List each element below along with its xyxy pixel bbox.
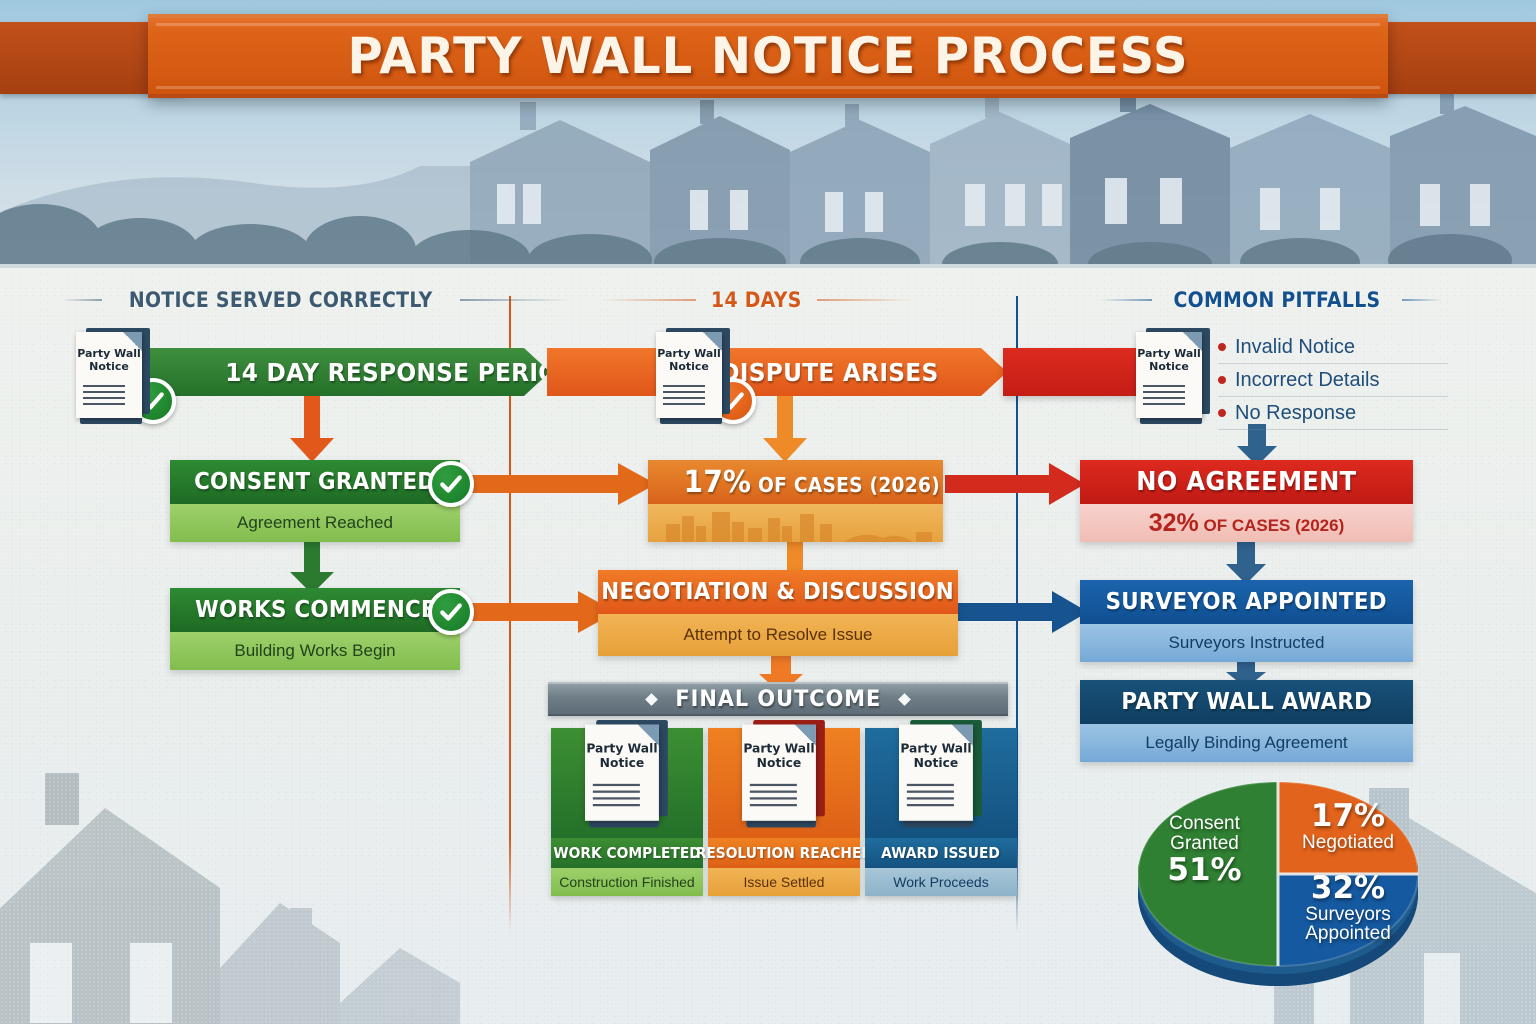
page-title: PARTY WALL NOTICE PROCESS [347,27,1188,85]
card-title: WORKS COMMENCE [195,597,436,623]
card-no-agreement: NO AGREEMENT 32% OF CASES (2026) [1080,460,1413,542]
card-party-wall-award: PARTY WALL AWARD Legally Binding Agreeme… [1080,680,1413,762]
outcome-card-subtitle: Work Proceeds [893,874,988,890]
banner-label: 14 DAY RESPONSE PERIOD [225,358,578,387]
doc-title: Party Wall Notice [899,741,973,770]
card-subtitle: Agreement Reached [237,513,393,533]
outcome-card-subtitle-bar: Construction Finished [551,868,703,896]
card-stat-17-percent: 17% OF CASES (2026) [648,460,943,542]
arrow-right-negotiation-to-surveyor [958,591,1088,633]
pitfall-label: Invalid Notice [1235,336,1355,359]
pie-label-value: 51% [1142,854,1267,887]
pitfall-item: Incorrect Details [1218,364,1448,397]
doc-sheet: Party Wall Notice [76,332,142,418]
card-title: NEGOTIATION & DISCUSSION [602,579,955,605]
notice-doc-outcome-1: Party Wall Notice [585,720,672,828]
pie-label-surveyors: 32% Surveyors Appointed [1286,872,1410,944]
rule [460,299,570,301]
check-icon [438,599,464,625]
card-header: NO AGREEMENT [1080,460,1413,504]
doc-title-line1: Party Wall [900,741,971,756]
card-surveyor-appointed: SURVEYOR APPOINTED Surveyors Instructed [1080,580,1413,662]
diamond-ornament-icon [898,693,911,706]
outcome-card-title-bar: WORK COMPLETED [551,838,703,868]
column-label: 14 DAYS [711,288,802,312]
column-label: NOTICE SERVED CORRECTLY [129,288,433,312]
notice-doc-left: Party Wall Notice [76,328,154,424]
doc-text-lines [663,385,705,409]
outcome-card-title-bar: AWARD ISSUED [865,838,1017,868]
pie-label-line2: Appointed [1286,924,1410,944]
stat-rest: OF CASES (2026) [1199,516,1345,535]
card-subtitle: Surveyors Instructed [1169,633,1325,653]
card-header: PARTY WALL AWARD [1080,680,1413,724]
doc-sheet: Party Wall Notice [742,724,816,820]
doc-text-lines [1143,385,1185,409]
doc-title-line2: Notice [914,756,959,771]
final-outcome-label: FINAL OUTCOME [675,687,881,712]
outcome-card-subtitle: Construction Finished [559,874,694,890]
doc-title-line1: Party Wall [586,741,657,756]
column-header-right: COMMON PITFALLS [1100,288,1442,312]
check-badge-works [428,589,474,635]
pitfall-label: No Response [1235,402,1356,425]
doc-title: Party Wall Notice [1136,347,1202,373]
infographic-root: PARTY WALL NOTICE PROCESS [0,0,1536,1024]
bullet-dot-icon [1218,343,1226,351]
title-banner: PARTY WALL NOTICE PROCESS [148,14,1388,98]
doc-title-line2: Notice [600,756,645,771]
outcome-card-subtitle-bar: Issue Settled [708,868,860,896]
card-subtitle: Attempt to Resolve Issue [684,625,873,645]
rule [1402,299,1442,301]
doc-title: Party Wall Notice [76,347,142,373]
doc-sheet: Party Wall Notice [1136,332,1202,418]
pitfall-item: No Response [1218,397,1448,430]
column-header-middle: 14 DAYS [600,288,913,312]
pie-label-line1: Consent [1142,814,1267,834]
arrow-down-to-consent [288,396,336,462]
doc-title-line1: Party Wall [77,347,141,360]
doc-sheet: Party Wall Notice [899,724,973,820]
doc-sheet: Party Wall Notice [656,332,722,418]
arrow-right-stat-to-no-agreement [945,463,1085,505]
arrow-right-consent-to-stat [466,463,656,505]
card-subtitle-bar: Agreement Reached [170,504,460,542]
banner-dispute-arises: DISPUTE ARISES [547,348,1007,396]
card-subtitle-bar: Building Works Begin [170,632,460,670]
card-header: 17% OF CASES (2026) [648,460,943,504]
doc-title-line2: Notice [89,360,129,373]
outcome-card-title: AWARD ISSUED [882,844,1001,862]
arrow-down-consent-to-works [288,538,336,594]
notice-doc-outcome-3: Party Wall Notice [899,720,986,828]
card-title: SURVEYOR APPOINTED [1106,589,1387,615]
notice-doc-right: Party Wall Notice [1136,328,1214,424]
card-header: WORKS COMMENCE [170,588,460,632]
pie-label-consent: Consent Granted 51% [1142,814,1267,886]
outcome-card-subtitle: Issue Settled [744,874,825,890]
card-negotiation: NEGOTIATION & DISCUSSION Attempt to Reso… [598,570,958,656]
rule [62,299,102,301]
pitfall-label: Incorrect Details [1235,369,1380,392]
card-title: CONSENT GRANTED [194,469,435,495]
card-header: SURVEYOR APPOINTED [1080,580,1413,624]
doc-text-lines [907,784,954,811]
card-header: CONSENT GRANTED [170,460,460,504]
card-subtitle-bar: Surveyors Instructed [1080,624,1413,662]
card-skyline-bar [648,504,943,542]
pie-label-line1: Negotiated [1290,833,1406,853]
notice-doc-middle: Party Wall Notice [656,328,734,424]
banner-response-period: 14 DAY RESPONSE PERIOD [150,348,550,396]
doc-text-lines [593,784,640,811]
doc-title-line2: Notice [1149,360,1189,373]
card-works-commence: WORKS COMMENCE Building Works Begin [170,588,460,670]
final-outcome-bar: FINAL OUTCOME [548,682,1008,716]
bullet-dot-icon [1218,409,1226,417]
doc-sheet: Party Wall Notice [585,724,659,820]
doc-title-line2: Notice [669,360,709,373]
doc-text-lines [750,784,797,811]
card-header: NEGOTIATION & DISCUSSION [598,570,958,614]
check-badge-consent [428,461,474,507]
column-label: COMMON PITFALLS [1173,288,1380,312]
doc-title: Party Wall Notice [585,741,659,770]
rule [817,299,913,301]
notice-doc-outcome-2: Party Wall Notice [742,720,829,828]
pie-label-value: 32% [1286,872,1410,905]
common-pitfalls-list: Invalid Notice Incorrect Details No Resp… [1218,331,1448,430]
doc-title-line1: Party Wall [657,347,721,360]
stat-percent: 17% [684,465,752,500]
rule [1100,299,1152,301]
bullet-dot-icon [1218,376,1226,384]
card-title: 17% OF CASES (2026) [684,465,940,500]
doc-title: Party Wall Notice [656,347,722,373]
pie-label-line1: Surveyors [1286,905,1410,925]
stat-rest: OF CASES (2026) [751,473,940,497]
doc-text-lines [83,385,125,409]
card-subtitle-bar: 32% OF CASES (2026) [1080,504,1413,542]
stat-percent: 32% [1149,509,1199,537]
card-subtitle: 32% OF CASES (2026) [1149,509,1345,538]
doc-title-line1: Party Wall [743,741,814,756]
outcome-card-title-bar: RESOLUTION REACHED [708,838,860,868]
check-icon [438,471,464,497]
pie-label-line2: Granted [1142,834,1267,854]
outcome-card-title: WORK COMPLETED [553,844,700,862]
card-title: PARTY WALL AWARD [1121,689,1372,715]
card-subtitle-bar: Legally Binding Agreement [1080,724,1413,762]
banner-label: DISPUTE ARISES [720,358,938,387]
diamond-ornament-icon [645,693,658,706]
watermark-house-left [0,768,460,1024]
arrow-right-works-to-negotiation [466,591,616,633]
card-subtitle-bar: Attempt to Resolve Issue [598,614,958,656]
rule [600,299,696,301]
column-header-left: NOTICE SERVED CORRECTLY [62,288,570,312]
card-title: NO AGREEMENT [1136,467,1356,497]
arrow-down-to-stat [761,396,809,462]
pie-label-value: 17% [1290,800,1406,833]
outcome-card-subtitle-bar: Work Proceeds [865,868,1017,896]
pie-label-negotiated: 17% Negotiated [1290,800,1406,852]
pitfall-item: Invalid Notice [1218,331,1448,364]
doc-title-line2: Notice [757,756,802,771]
doc-title-line1: Party Wall [1137,347,1201,360]
arrow-down-no-agreement-to-surveyor [1224,540,1268,584]
card-subtitle: Building Works Begin [234,641,395,661]
outcome-pie-chart: Consent Granted 51% 17% Negotiated 32% S… [1128,762,1428,992]
outcome-card-title: RESOLUTION REACHED [695,844,872,862]
doc-title: Party Wall Notice [742,741,816,770]
card-consent-granted: CONSENT GRANTED Agreement Reached [170,460,460,542]
card-subtitle: Legally Binding Agreement [1145,733,1347,753]
terraced-houses-skyline [0,92,1536,272]
city-skyline-icon [648,504,943,542]
